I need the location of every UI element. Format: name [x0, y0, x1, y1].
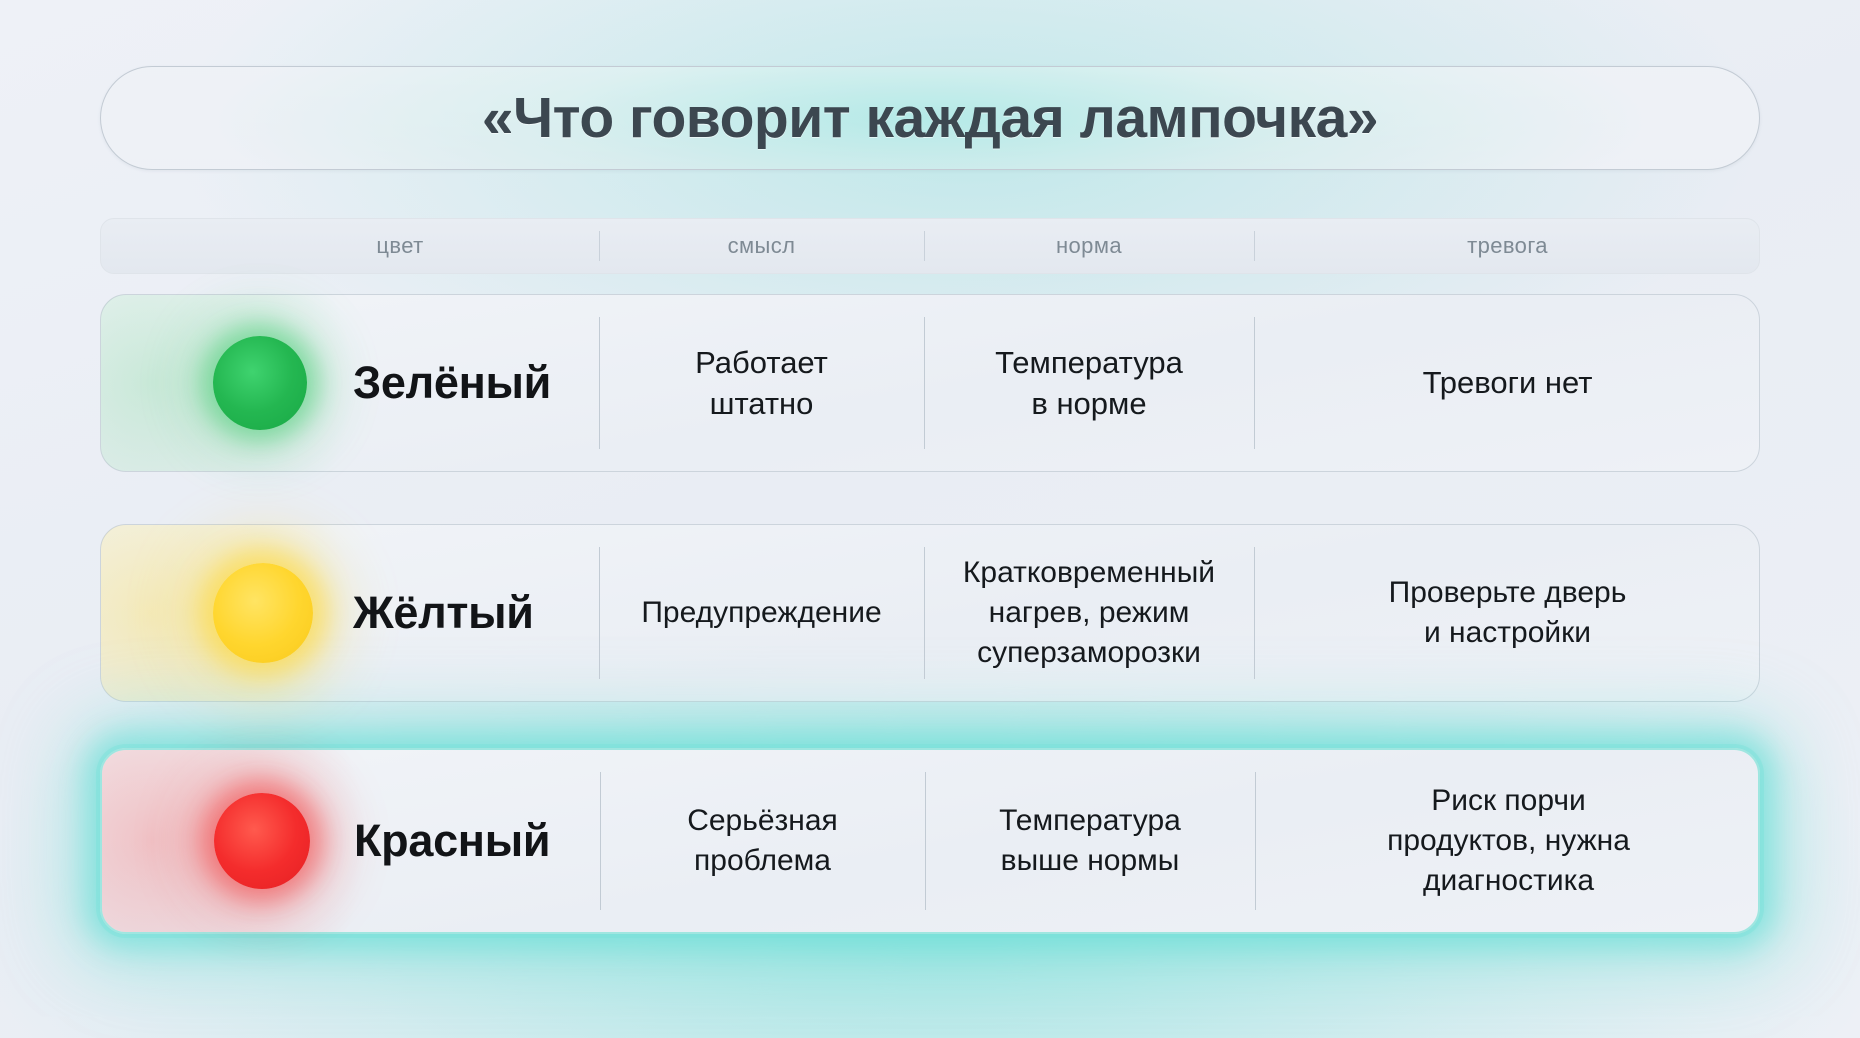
cell-green-normal: Температурав нормe	[924, 295, 1254, 471]
cell-red-meaning: Серьёзнаяпроблема	[600, 750, 925, 932]
table-column-header: цвет смысл норма тревога	[100, 218, 1760, 274]
column-header-meaning: смысл	[599, 219, 924, 273]
cell-yellow-alarm: Проверьте дверьи настройки	[1254, 525, 1761, 701]
lamp-label-green: Зелёный	[353, 357, 551, 409]
title-card: «Что говорит каждая лампочка»	[100, 66, 1760, 170]
table-row-yellow[interactable]: Жёлтый Предупреждение Кратковременныйнаг…	[100, 524, 1760, 702]
lamp-indicator-red-icon	[214, 793, 310, 889]
column-header-normal: норма	[924, 219, 1254, 273]
cell-yellow-normal: Кратковременныйнагрев, режимсуперзамороз…	[924, 525, 1254, 701]
infographic-page: «Что говорит каждая лампочка» цвет смысл…	[0, 0, 1860, 1038]
cell-green-meaning: Работаетштатно	[599, 295, 924, 471]
lamp-indicator-green-icon	[213, 336, 307, 430]
table-row-green[interactable]: Зелёный Работаетштатно Температурав норм…	[100, 294, 1760, 472]
lamp-label-yellow: Жёлтый	[353, 587, 534, 639]
cell-red-normal: Температуравыше нормы	[925, 750, 1255, 932]
cell-red-alarm: Риск порчипродуктов, нужнадиагностика	[1255, 750, 1762, 932]
cell-green-alarm: Тревоги нет	[1254, 295, 1761, 471]
cell-yellow-meaning: Предупреждение	[599, 525, 924, 701]
column-header-alarm: тревога	[1254, 219, 1761, 273]
page-title: «Что говорит каждая лампочка»	[482, 85, 1378, 151]
table-row-red[interactable]: Красный Серьёзнаяпроблема Температуравыш…	[100, 748, 1760, 934]
lamp-label-red: Красный	[354, 815, 550, 867]
lamp-indicator-yellow-icon	[213, 563, 313, 663]
